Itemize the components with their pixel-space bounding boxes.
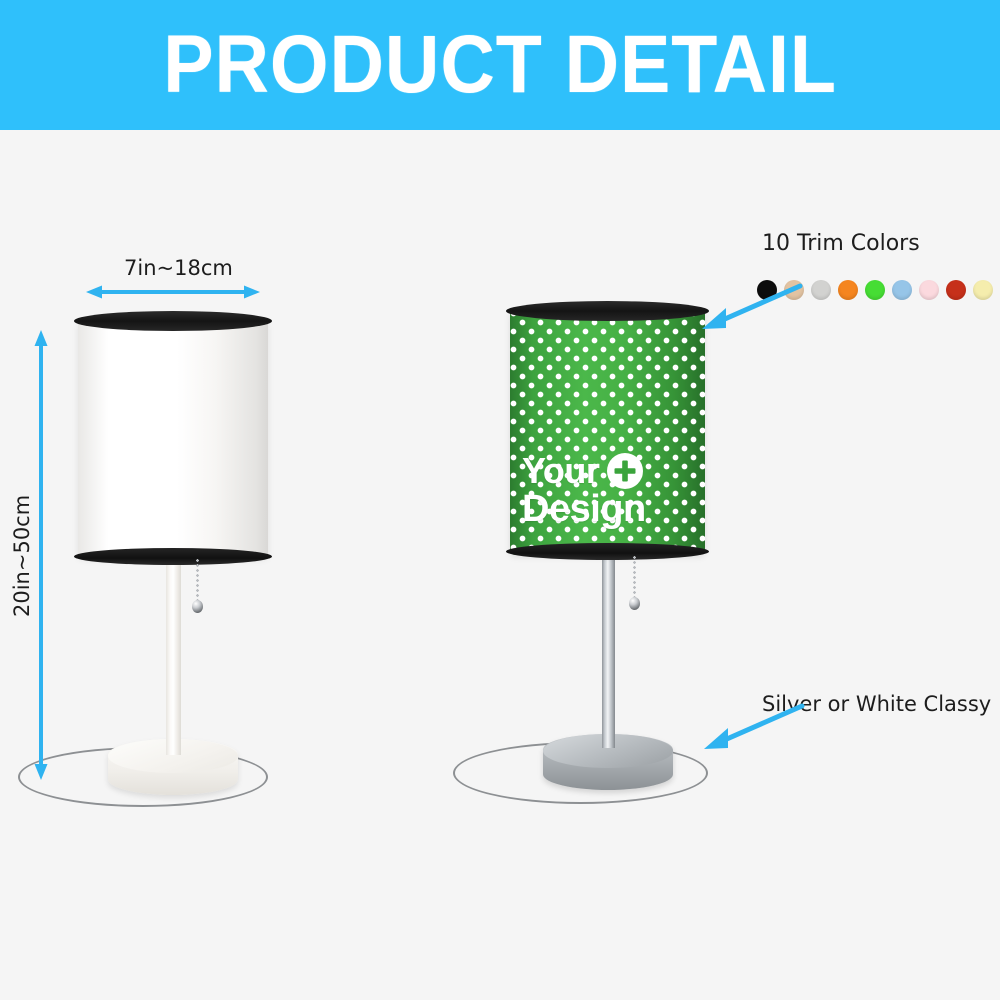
green-lamp-pole bbox=[602, 548, 615, 748]
header-banner: PRODUCT DETAIL bbox=[0, 0, 1000, 130]
base-finish-pointer-arrow bbox=[690, 700, 810, 760]
trim-swatch-cream-yellow[interactable] bbox=[973, 280, 993, 300]
green-lamp-bottom-trim bbox=[506, 543, 709, 560]
width-dimension-arrow bbox=[86, 285, 260, 299]
green-lamp-shade: Your Design bbox=[510, 310, 705, 555]
white-lamp-bottom-trim bbox=[74, 548, 272, 565]
green-lamp-design-line1: Your bbox=[522, 453, 599, 488]
green-lamp-shade-body: Your Design bbox=[510, 310, 705, 555]
white-lamp-pull-chain[interactable] bbox=[196, 558, 199, 605]
height-dimension-arrow bbox=[33, 330, 49, 780]
green-lamp-design-artwork: Your Design bbox=[522, 450, 692, 530]
white-lamp-pull-chain-ball[interactable] bbox=[192, 600, 203, 613]
trim-swatch-light-gray[interactable] bbox=[811, 280, 831, 300]
green-lamp-pull-chain-ball[interactable] bbox=[629, 597, 640, 610]
trim-swatch-dark-red[interactable] bbox=[946, 280, 966, 300]
width-dimension-label: 7in~18cm bbox=[124, 256, 233, 280]
green-lamp-pull-chain[interactable] bbox=[633, 555, 636, 602]
white-lamp-pole bbox=[166, 550, 181, 755]
trim-colors-title: 10 Trim Colors bbox=[762, 231, 920, 256]
trim-swatch-green[interactable] bbox=[865, 280, 885, 300]
page-title: PRODUCT DETAIL bbox=[163, 24, 837, 106]
white-lamp-shade bbox=[78, 320, 268, 558]
height-dimension-label: 20in~50cm bbox=[10, 497, 34, 617]
trim-swatch-light-blue[interactable] bbox=[892, 280, 912, 300]
white-lamp-shade-body bbox=[78, 320, 268, 558]
green-lamp-design-line2: Design bbox=[522, 491, 646, 528]
green-lamp-top-trim bbox=[506, 301, 709, 321]
white-lamp-top-trim bbox=[74, 311, 272, 331]
circle-plus-icon bbox=[606, 452, 644, 490]
trim-swatch-pink[interactable] bbox=[919, 280, 939, 300]
white-lamp bbox=[0, 130, 340, 830]
trim-colors-pointer-arrow bbox=[690, 278, 810, 338]
product-detail-page: PRODUCT DETAIL bbox=[0, 0, 1000, 1000]
trim-swatch-orange[interactable] bbox=[838, 280, 858, 300]
